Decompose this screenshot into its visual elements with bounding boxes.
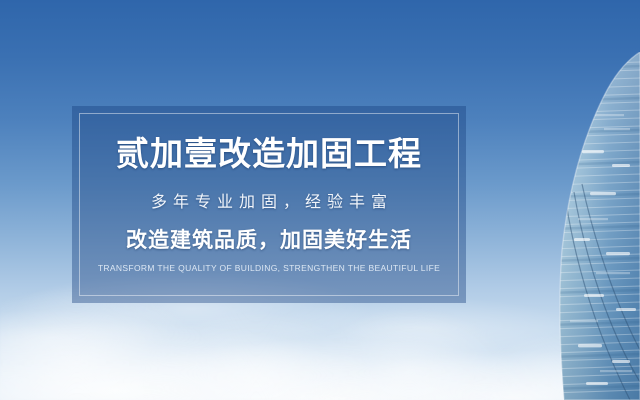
tower-body: [520, 52, 640, 400]
skyscraper-svg: [520, 52, 640, 400]
hero-banner: 贰加壹改造加固工程 多年专业加固，经验丰富 改造建筑品质，加固美好生活 TRAN…: [0, 0, 640, 400]
banner-subline: 多年专业加固，经验丰富: [145, 188, 393, 212]
banner-headline: 贰加壹改造加固工程: [116, 136, 422, 172]
banner-english-tagline: TRANSFORM THE QUALITY OF BUILDING, STREN…: [98, 263, 440, 273]
banner-panel: 贰加壹改造加固工程 多年专业加固，经验丰富 改造建筑品质，加固美好生活 TRAN…: [72, 106, 466, 303]
banner-text-group: 贰加壹改造加固工程 多年专业加固，经验丰富 改造建筑品质，加固美好生活 TRAN…: [72, 106, 466, 303]
skyscraper-image: [520, 52, 640, 400]
banner-tagline: 改造建筑品质，加固美好生活: [126, 224, 412, 254]
